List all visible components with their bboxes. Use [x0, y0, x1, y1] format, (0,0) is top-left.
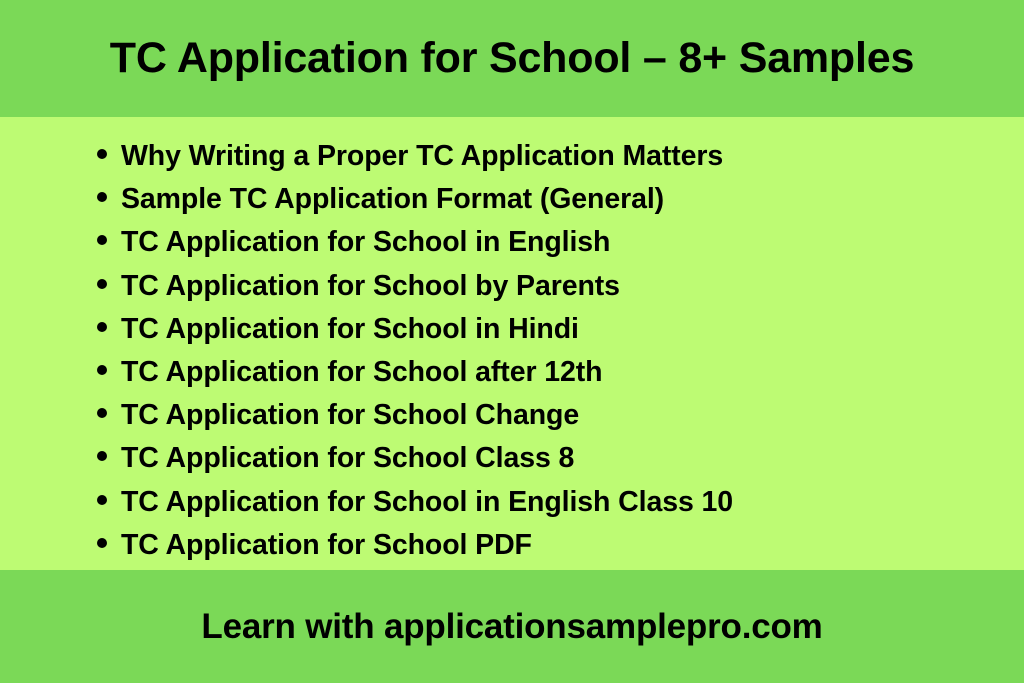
list-item: TC Application for School in English Cla…	[97, 481, 984, 524]
footer-attribution: Learn with applicationsamplepro.com	[201, 607, 822, 647]
list-item-label: TC Application for School after 12th	[121, 351, 602, 394]
topic-list: Why Writing a Proper TC Application Matt…	[97, 135, 984, 567]
list-item-label: TC Application for School by Parents	[121, 265, 620, 308]
list-item: TC Application for School Class 8	[97, 437, 984, 480]
list-item-label: TC Application for School Change	[121, 394, 579, 437]
list-item: TC Application for School Change	[97, 394, 984, 437]
bullet-dot-icon	[97, 235, 107, 245]
list-item-label: TC Application for School in English Cla…	[121, 481, 733, 524]
bullet-dot-icon	[97, 495, 107, 505]
bullet-dot-icon	[97, 322, 107, 332]
list-item: Sample TC Application Format (General)	[97, 178, 984, 221]
poster-graphic: TC Application for School – 8+ Samples W…	[0, 0, 1024, 683]
list-item: Why Writing a Proper TC Application Matt…	[97, 135, 984, 178]
bullet-dot-icon	[97, 408, 107, 418]
list-item: TC Application for School PDF	[97, 524, 984, 567]
page-title: TC Application for School – 8+ Samples	[110, 36, 914, 81]
bullet-dot-icon	[97, 149, 107, 159]
bullet-dot-icon	[97, 192, 107, 202]
list-item-label: TC Application for School PDF	[121, 524, 532, 567]
list-item: TC Application for School by Parents	[97, 265, 984, 308]
bullet-dot-icon	[97, 451, 107, 461]
list-item-label: TC Application for School in Hindi	[121, 308, 579, 351]
list-item-label: Sample TC Application Format (General)	[121, 178, 664, 221]
bullet-dot-icon	[97, 365, 107, 375]
list-item-label: TC Application for School in English	[121, 221, 610, 264]
bullet-dot-icon	[97, 538, 107, 548]
content-band: Why Writing a Proper TC Application Matt…	[0, 117, 1024, 570]
footer-band: Learn with applicationsamplepro.com	[0, 570, 1024, 683]
list-item: TC Application for School in Hindi	[97, 308, 984, 351]
bullet-dot-icon	[97, 279, 107, 289]
list-item: TC Application for School in English	[97, 221, 984, 264]
list-item-label: TC Application for School Class 8	[121, 437, 574, 480]
list-item: TC Application for School after 12th	[97, 351, 984, 394]
header-band: TC Application for School – 8+ Samples	[0, 0, 1024, 117]
list-item-label: Why Writing a Proper TC Application Matt…	[121, 135, 723, 178]
